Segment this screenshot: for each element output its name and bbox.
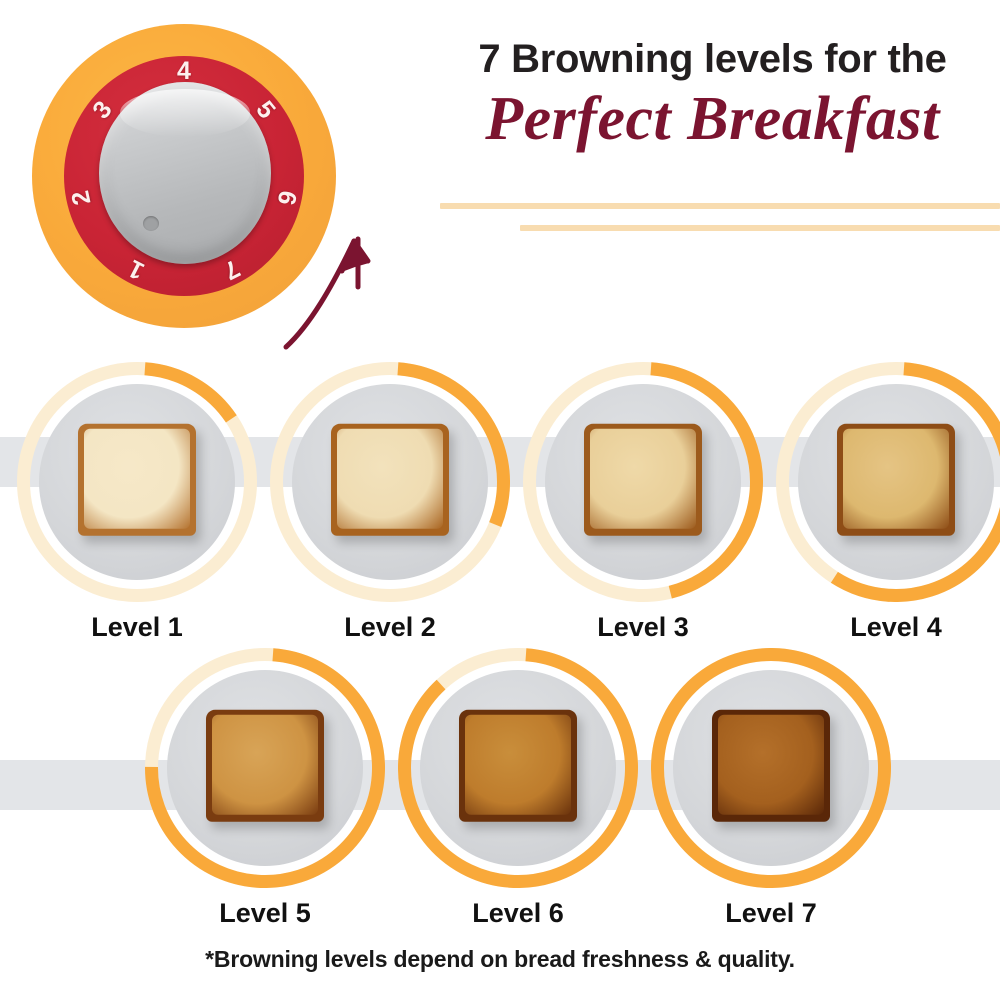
- browning-level-card-1[interactable]: Level 1: [17, 362, 257, 662]
- toast-surface-1: [84, 429, 190, 529]
- toast-slice-7: [712, 710, 830, 822]
- toast-surface-5: [212, 715, 318, 815]
- toast-slice-3: [584, 424, 702, 536]
- browning-level-grid: Level 1Level 2Level 3Level 4Level 5Level…: [0, 0, 1000, 1000]
- toast-surface-6: [465, 715, 571, 815]
- browning-level-card-5[interactable]: Level 5: [145, 648, 385, 948]
- level-label-5: Level 5: [145, 898, 385, 929]
- browning-level-card-7[interactable]: Level 7: [651, 648, 891, 948]
- level-label-3: Level 3: [523, 612, 763, 643]
- level-plate-7: [673, 670, 869, 866]
- toast-slice-6: [459, 710, 577, 822]
- level-plate-6: [420, 670, 616, 866]
- level-plate-3: [545, 384, 741, 580]
- toast-slice-4: [837, 424, 955, 536]
- browning-level-card-6[interactable]: Level 6: [398, 648, 638, 948]
- toast-surface-3: [590, 429, 696, 529]
- level-plate-1: [39, 384, 235, 580]
- toast-slice-5: [206, 710, 324, 822]
- level-plate-2: [292, 384, 488, 580]
- footnote-text: *Browning levels depend on bread freshne…: [0, 946, 1000, 973]
- toast-surface-4: [843, 429, 949, 529]
- browning-level-card-3[interactable]: Level 3: [523, 362, 763, 662]
- infographic-stage: 1234567 7 Browning levels for the Perfec…: [0, 0, 1000, 1000]
- toast-slice-2: [331, 424, 449, 536]
- level-label-1: Level 1: [17, 612, 257, 643]
- toast-slice-1: [78, 424, 196, 536]
- level-label-6: Level 6: [398, 898, 638, 929]
- level-label-7: Level 7: [651, 898, 891, 929]
- level-label-2: Level 2: [270, 612, 510, 643]
- browning-level-card-4[interactable]: Level 4: [776, 362, 1000, 662]
- level-plate-4: [798, 384, 994, 580]
- browning-level-card-2[interactable]: Level 2: [270, 362, 510, 662]
- toast-surface-7: [718, 715, 824, 815]
- level-label-4: Level 4: [776, 612, 1000, 643]
- level-plate-5: [167, 670, 363, 866]
- toast-surface-2: [337, 429, 443, 529]
